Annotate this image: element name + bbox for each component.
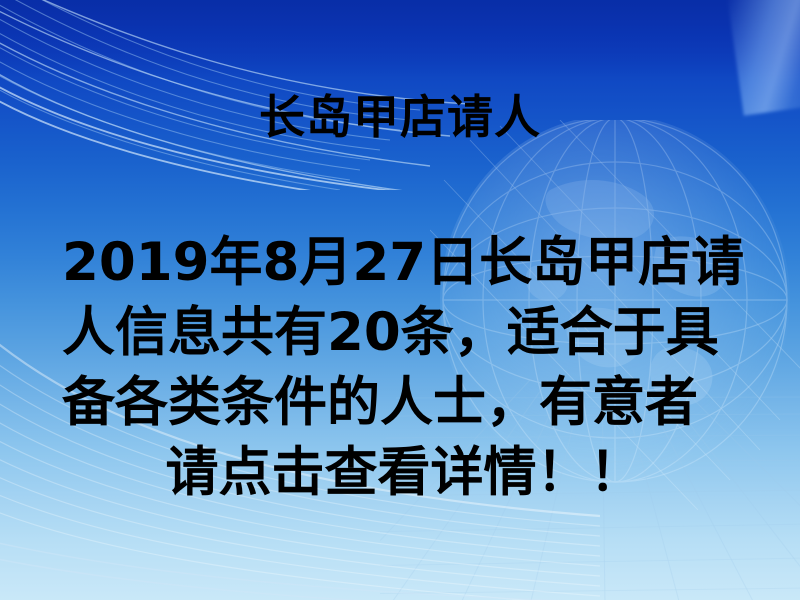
slide-body-text: 2019年8月27日长岛甲店请 人信息共有20条，适合于具 备各类条件的人士，有… [46, 228, 762, 508]
body-line-2: 人信息共有20条，适合于具 [46, 298, 762, 368]
body-line-1: 2019年8月27日长岛甲店请 [46, 228, 762, 298]
slide-title: 长岛甲店请人 [0, 88, 800, 146]
slide-content: 长岛甲店请人 2019年8月27日长岛甲店请 人信息共有20条，适合于具 备各类… [0, 0, 800, 600]
presentation-slide: 长岛甲店请人 2019年8月27日长岛甲店请 人信息共有20条，适合于具 备各类… [0, 0, 800, 600]
body-line-3: 备各类条件的人士，有意者 [46, 368, 762, 438]
body-line-4: 请点击查看详情！！ [46, 438, 762, 508]
